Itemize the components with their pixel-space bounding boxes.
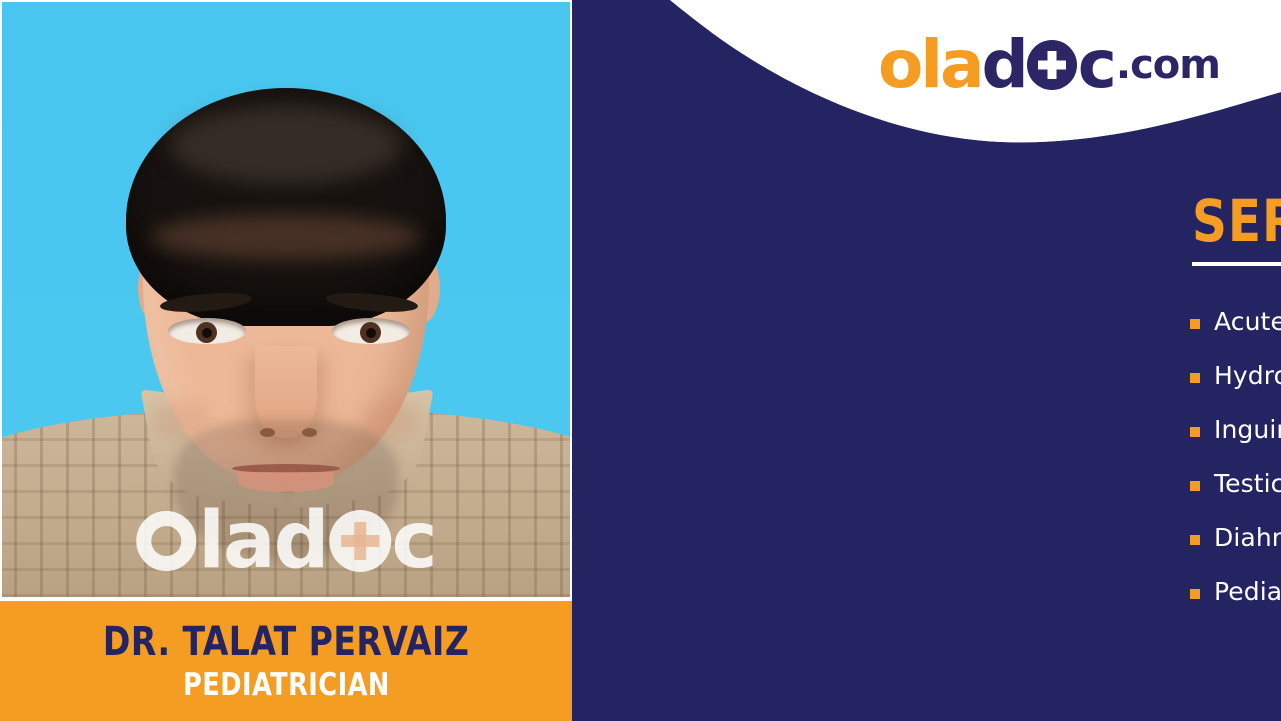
- doctor-name: DR. TALAT PERVAIZ: [103, 619, 469, 665]
- doctor-photo: lad c: [2, 2, 570, 597]
- service-item[interactable]: Diahrrea: [1190, 524, 1281, 552]
- service-item[interactable]: Acute appendicitis: [1190, 308, 1281, 336]
- service-label: Hydrocele Surgery: [1214, 362, 1281, 390]
- doctor-profile-card: lad c DR. TALAT PERVAIZ PEDIATRICIAN ola…: [0, 0, 1281, 721]
- pupil-right: [366, 328, 376, 338]
- lower-lip: [238, 472, 334, 492]
- services-columns: Acute appendicitis Hydrocele Surgery Ing…: [1190, 308, 1281, 632]
- services-heading-underline: [1192, 262, 1281, 266]
- photo-panel: lad c DR. TALAT PERVAIZ PEDIATRICIAN: [0, 0, 572, 721]
- service-label: Pediatric Tumors: [1214, 578, 1281, 606]
- service-label: Inguinal Hernia: [1214, 416, 1281, 444]
- hair-sheen: [170, 106, 402, 184]
- bullet-square-icon: [1190, 373, 1200, 383]
- pupil-left: [202, 328, 212, 338]
- bullet-square-icon: [1190, 427, 1200, 437]
- logo-c-text: c: [1078, 32, 1115, 98]
- oladoc-logo[interactable]: ola d c .com: [878, 32, 1220, 98]
- services-panel: ola d c .com SERVICES Acute appendicitis…: [572, 0, 1281, 721]
- logo-o-plus-icon: [1027, 40, 1077, 90]
- bullet-square-icon: [1190, 535, 1200, 545]
- doctor-specialty: PEDIATRICIAN: [183, 667, 390, 703]
- services-column-left: Acute appendicitis Hydrocele Surgery Ing…: [1190, 308, 1281, 632]
- bullet-square-icon: [1190, 589, 1200, 599]
- services-heading: SERVICES: [1192, 192, 1281, 250]
- logo-d-text: d: [982, 32, 1026, 98]
- services-heading-text: SERVICES: [1192, 192, 1281, 250]
- forehead-shadow: [151, 214, 421, 260]
- doctor-name-banner: DR. TALAT PERVAIZ PEDIATRICIAN: [0, 601, 572, 721]
- service-label: Acute appendicitis: [1214, 308, 1281, 336]
- service-item[interactable]: Testicular Torsion: [1190, 470, 1281, 498]
- service-item[interactable]: Pediatric Tumors: [1190, 578, 1281, 606]
- logo-com-text: .com: [1116, 45, 1220, 85]
- service-item[interactable]: Inguinal Hernia: [1190, 416, 1281, 444]
- bullet-square-icon: [1190, 481, 1200, 491]
- logo-ola-text: ola: [878, 32, 982, 98]
- service-label: Testicular Torsion: [1214, 470, 1281, 498]
- service-item[interactable]: Hydrocele Surgery: [1190, 362, 1281, 390]
- service-label: Diahrrea: [1214, 524, 1281, 552]
- bullet-square-icon: [1190, 319, 1200, 329]
